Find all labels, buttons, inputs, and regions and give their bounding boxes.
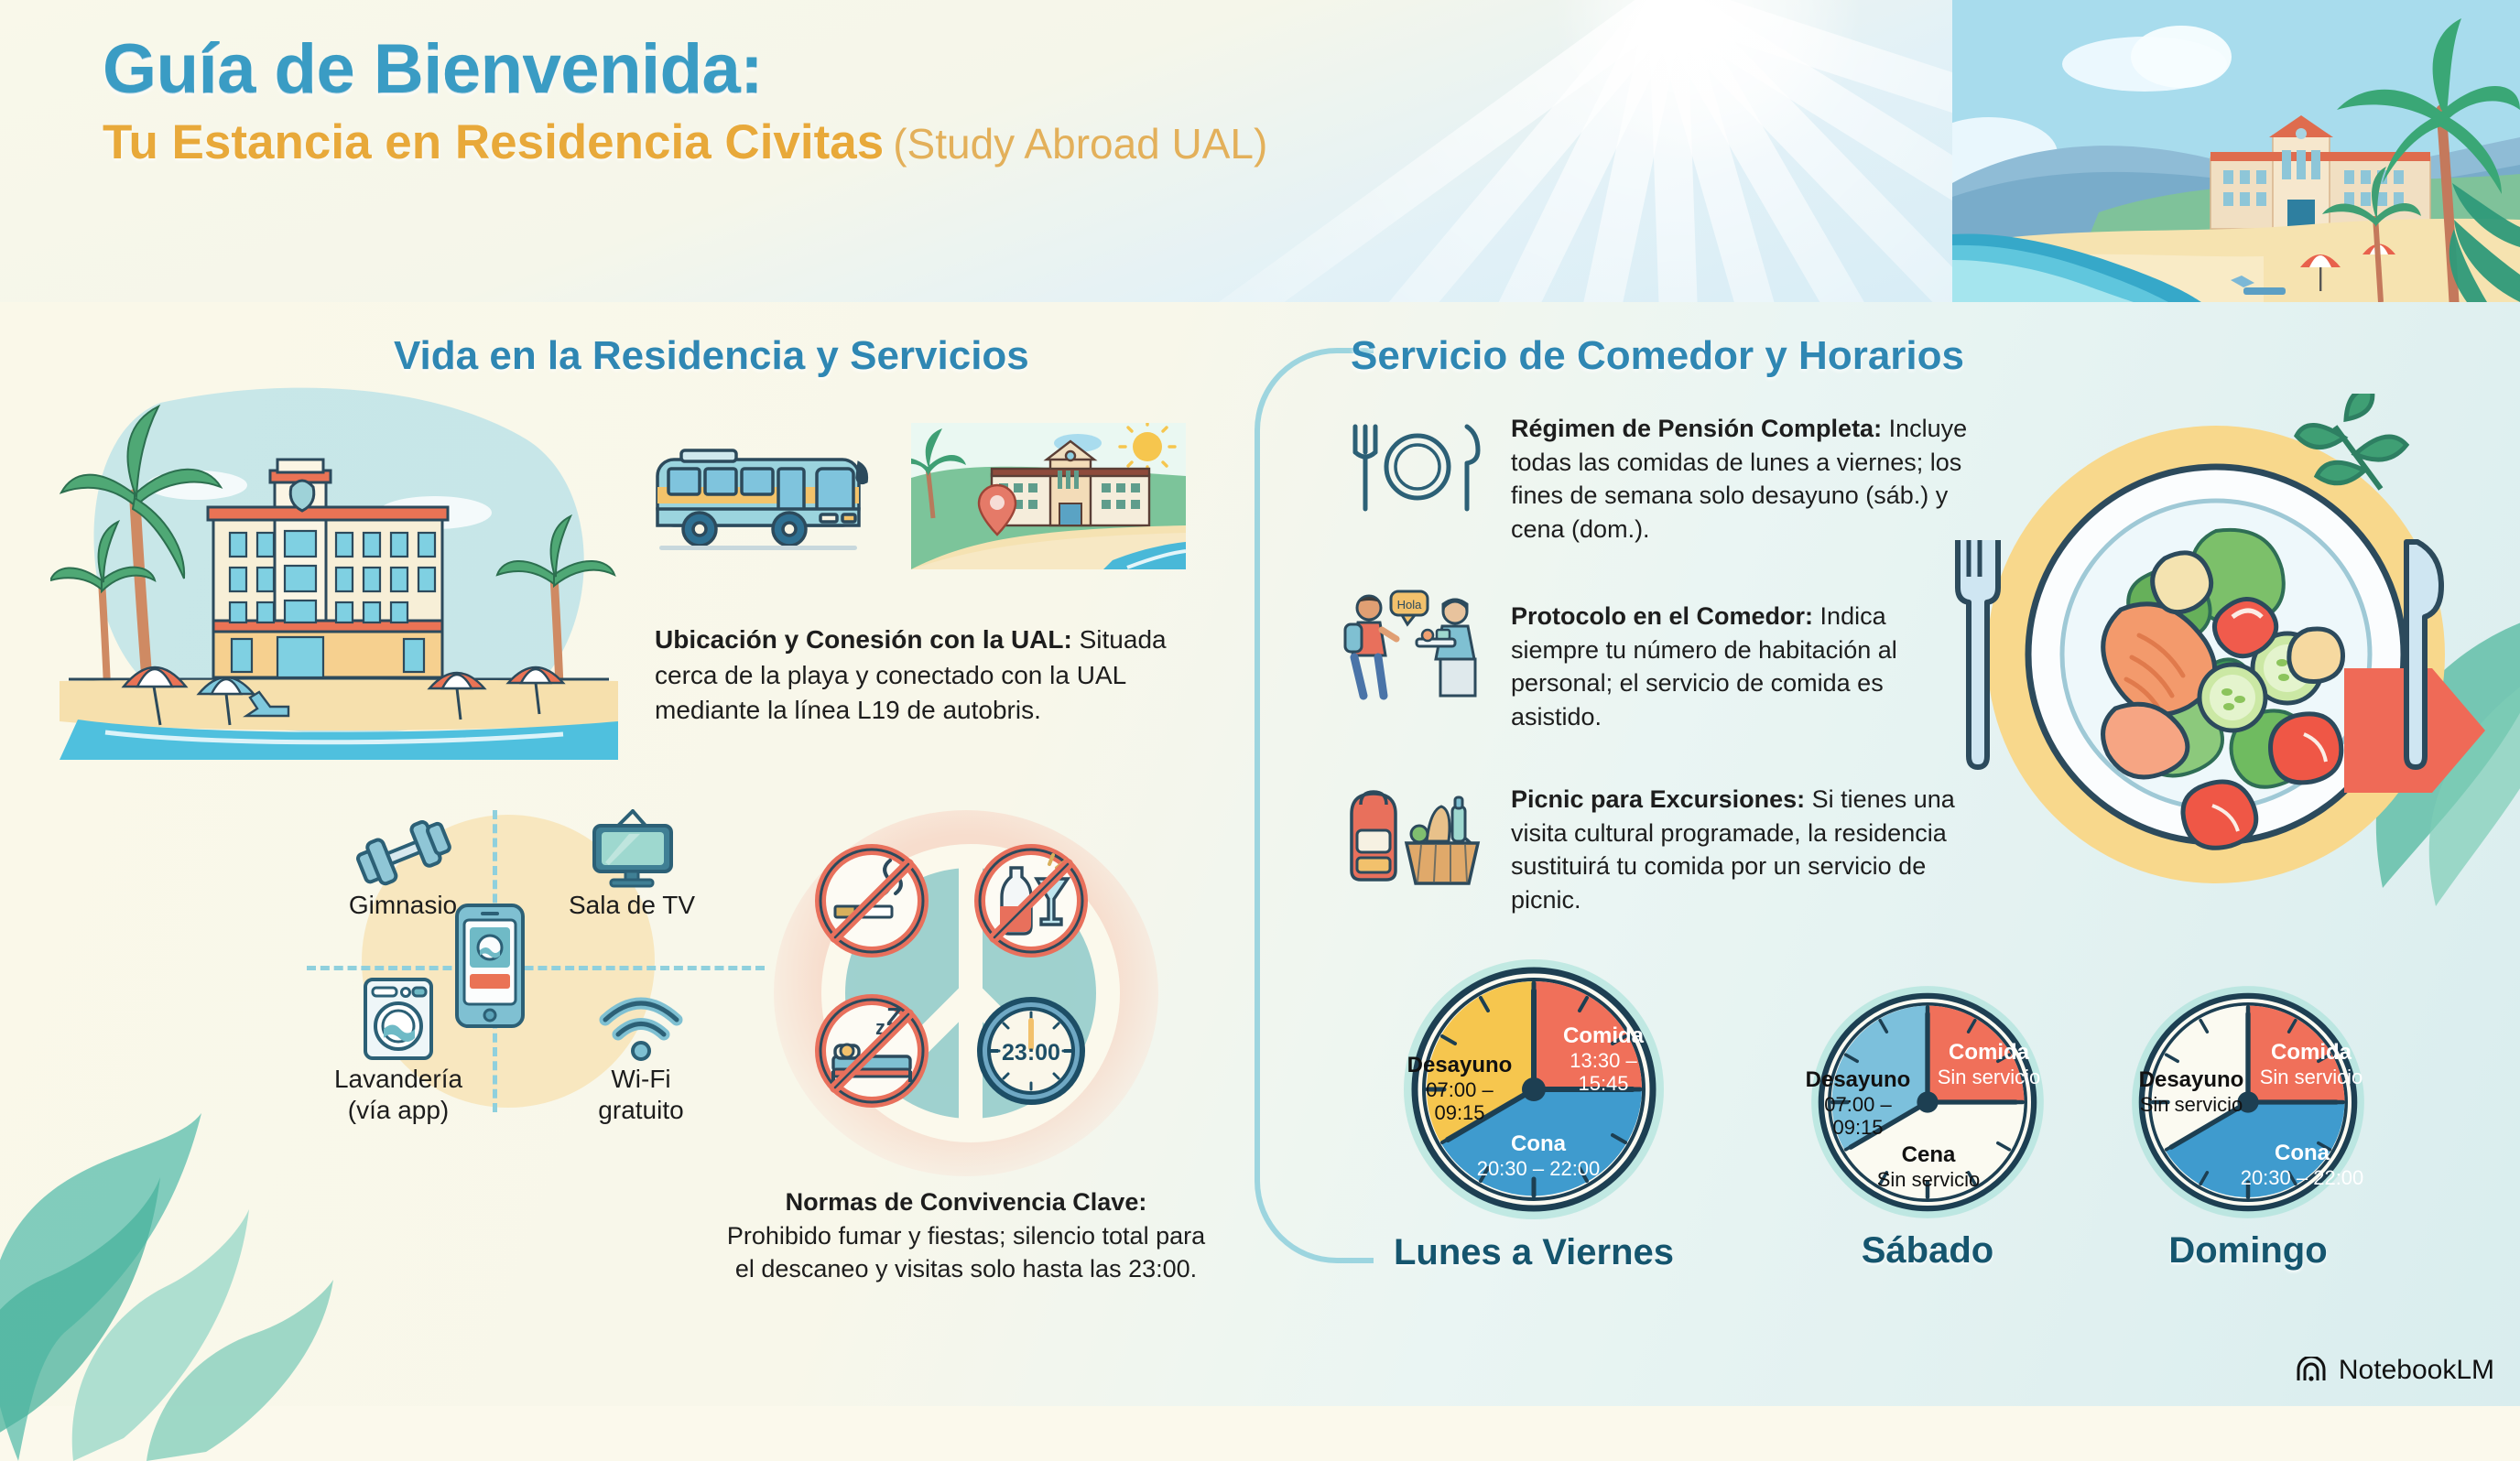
no-noise-sleep-icon: z Z bbox=[811, 990, 932, 1111]
poster-header: Guía de Bienvenida: Tu Estancia en Resid… bbox=[0, 0, 2520, 302]
student-staff-tray-icon: Hola bbox=[1332, 586, 1497, 705]
day-label-sunday: Domingo bbox=[2079, 1230, 2417, 1272]
amenity-tv-label: Sala de TV bbox=[540, 890, 723, 921]
clock-pie-sunday bbox=[2125, 979, 2371, 1225]
residence-building-illustration bbox=[50, 384, 627, 760]
amenities-divider-horizontal bbox=[307, 966, 765, 970]
section-title-residence: Vida en la Residencia y Servicios bbox=[394, 333, 1029, 379]
page-title: Guía de Bienvenida: bbox=[103, 32, 1267, 107]
no-smoking-icon bbox=[811, 840, 932, 961]
location-text-block: Ubicación y Conesión con la UAL: Situada… bbox=[655, 622, 1204, 729]
dining-item-pension-text: Régimen de Pensión Completa: Incluye tod… bbox=[1511, 412, 1969, 547]
beach-campus-header-illustration bbox=[1952, 0, 2520, 302]
amenity-laundry-label: Lavandería bbox=[334, 1065, 462, 1093]
clock-pie-weekdays bbox=[1396, 952, 1671, 1227]
title-block: Guía de Bienvenida: Tu Estancia en Resid… bbox=[103, 32, 1267, 170]
dining-item-protocol-text: Protocolo en el Comedor: Indica siempre … bbox=[1511, 600, 1969, 734]
laundry-app-phone-icon bbox=[453, 902, 527, 1030]
amenity-wifi: Wi-Fi gratuito bbox=[549, 979, 733, 1126]
dining-item-picnic-heading: Picnic para Excursiones: bbox=[1511, 785, 1805, 813]
meal-schedule-clock-charts: Desayuno 07:00 – 09:15 Comida 13:30 – 15… bbox=[1364, 952, 2445, 1382]
rules-text-block: Normas de Convivencia Clave: Prohibido f… bbox=[723, 1185, 1209, 1286]
dumbbell-icon bbox=[311, 806, 494, 890]
amenity-tv-room: Sala de TV bbox=[540, 806, 723, 921]
tropical-leaf-decoration-left bbox=[0, 985, 357, 1461]
rules-heading: Normas de Convivencia Clave: bbox=[786, 1188, 1147, 1216]
salad-plate-illustration bbox=[1941, 394, 2491, 915]
tv-icon bbox=[540, 806, 723, 890]
clock-chart-saturday: Desayuno 07:00 – 09:15 Comida Sin servic… bbox=[1758, 979, 2097, 1272]
watermark: NotebookLM bbox=[2295, 1355, 2494, 1386]
cutlery-plate-icon bbox=[1337, 414, 1493, 519]
section-title-dining: Servicio de Comedor y Horarios bbox=[1351, 333, 1964, 379]
infographic-poster: Guía de Bienvenida: Tu Estancia en Resid… bbox=[0, 0, 2520, 1406]
svg-text:Hola: Hola bbox=[1397, 598, 1423, 611]
amenity-laundry-sublabel: (vía app) bbox=[348, 1096, 450, 1124]
clock-chart-weekdays: Desayuno 07:00 – 09:15 Comida 13:30 – 15… bbox=[1364, 952, 1703, 1273]
day-label-saturday: Sábado bbox=[1758, 1230, 2097, 1272]
dining-item-protocol-heading: Protocolo en el Comedor: bbox=[1511, 602, 1813, 630]
clock-chart-sunday: Desayuno Sin servicio Comida Sin servici… bbox=[2079, 979, 2417, 1272]
rules-body: Prohibido fumar y fiestas; silencio tota… bbox=[727, 1222, 1205, 1283]
dining-item-picnic-text: Picnic para Excursiones: Si tienes una v… bbox=[1511, 783, 1987, 917]
dining-item-pension-heading: Régimen de Pensión Completa: bbox=[1511, 415, 1882, 442]
curfew-time-label: 23:00 bbox=[1002, 1040, 1060, 1066]
campus-location-map-icon bbox=[911, 423, 1186, 569]
page-subtitle-parenthetical: (Study Abroad UAL) bbox=[893, 120, 1267, 168]
bus-icon bbox=[650, 430, 879, 563]
picnic-backpack-basket-icon bbox=[1337, 774, 1493, 897]
page-subtitle: Tu Estancia en Residencia Civitas bbox=[103, 115, 884, 169]
curfew-clock-icon: 23:00 bbox=[971, 990, 1092, 1111]
no-drinking-icon bbox=[971, 840, 1092, 961]
notebooklm-icon bbox=[2295, 1357, 2328, 1384]
amenity-wifi-label: Wi-Fi bbox=[611, 1065, 670, 1093]
day-label-weekdays: Lunes a Viernes bbox=[1364, 1232, 1703, 1273]
clock-pie-saturday bbox=[1805, 979, 2050, 1225]
location-heading: Ubicación y Conesión con la UAL: bbox=[655, 625, 1072, 654]
wifi-icon bbox=[549, 979, 733, 1064]
amenity-wifi-sublabel: gratuito bbox=[598, 1096, 683, 1124]
watermark-label: NotebookLM bbox=[2339, 1355, 2494, 1386]
